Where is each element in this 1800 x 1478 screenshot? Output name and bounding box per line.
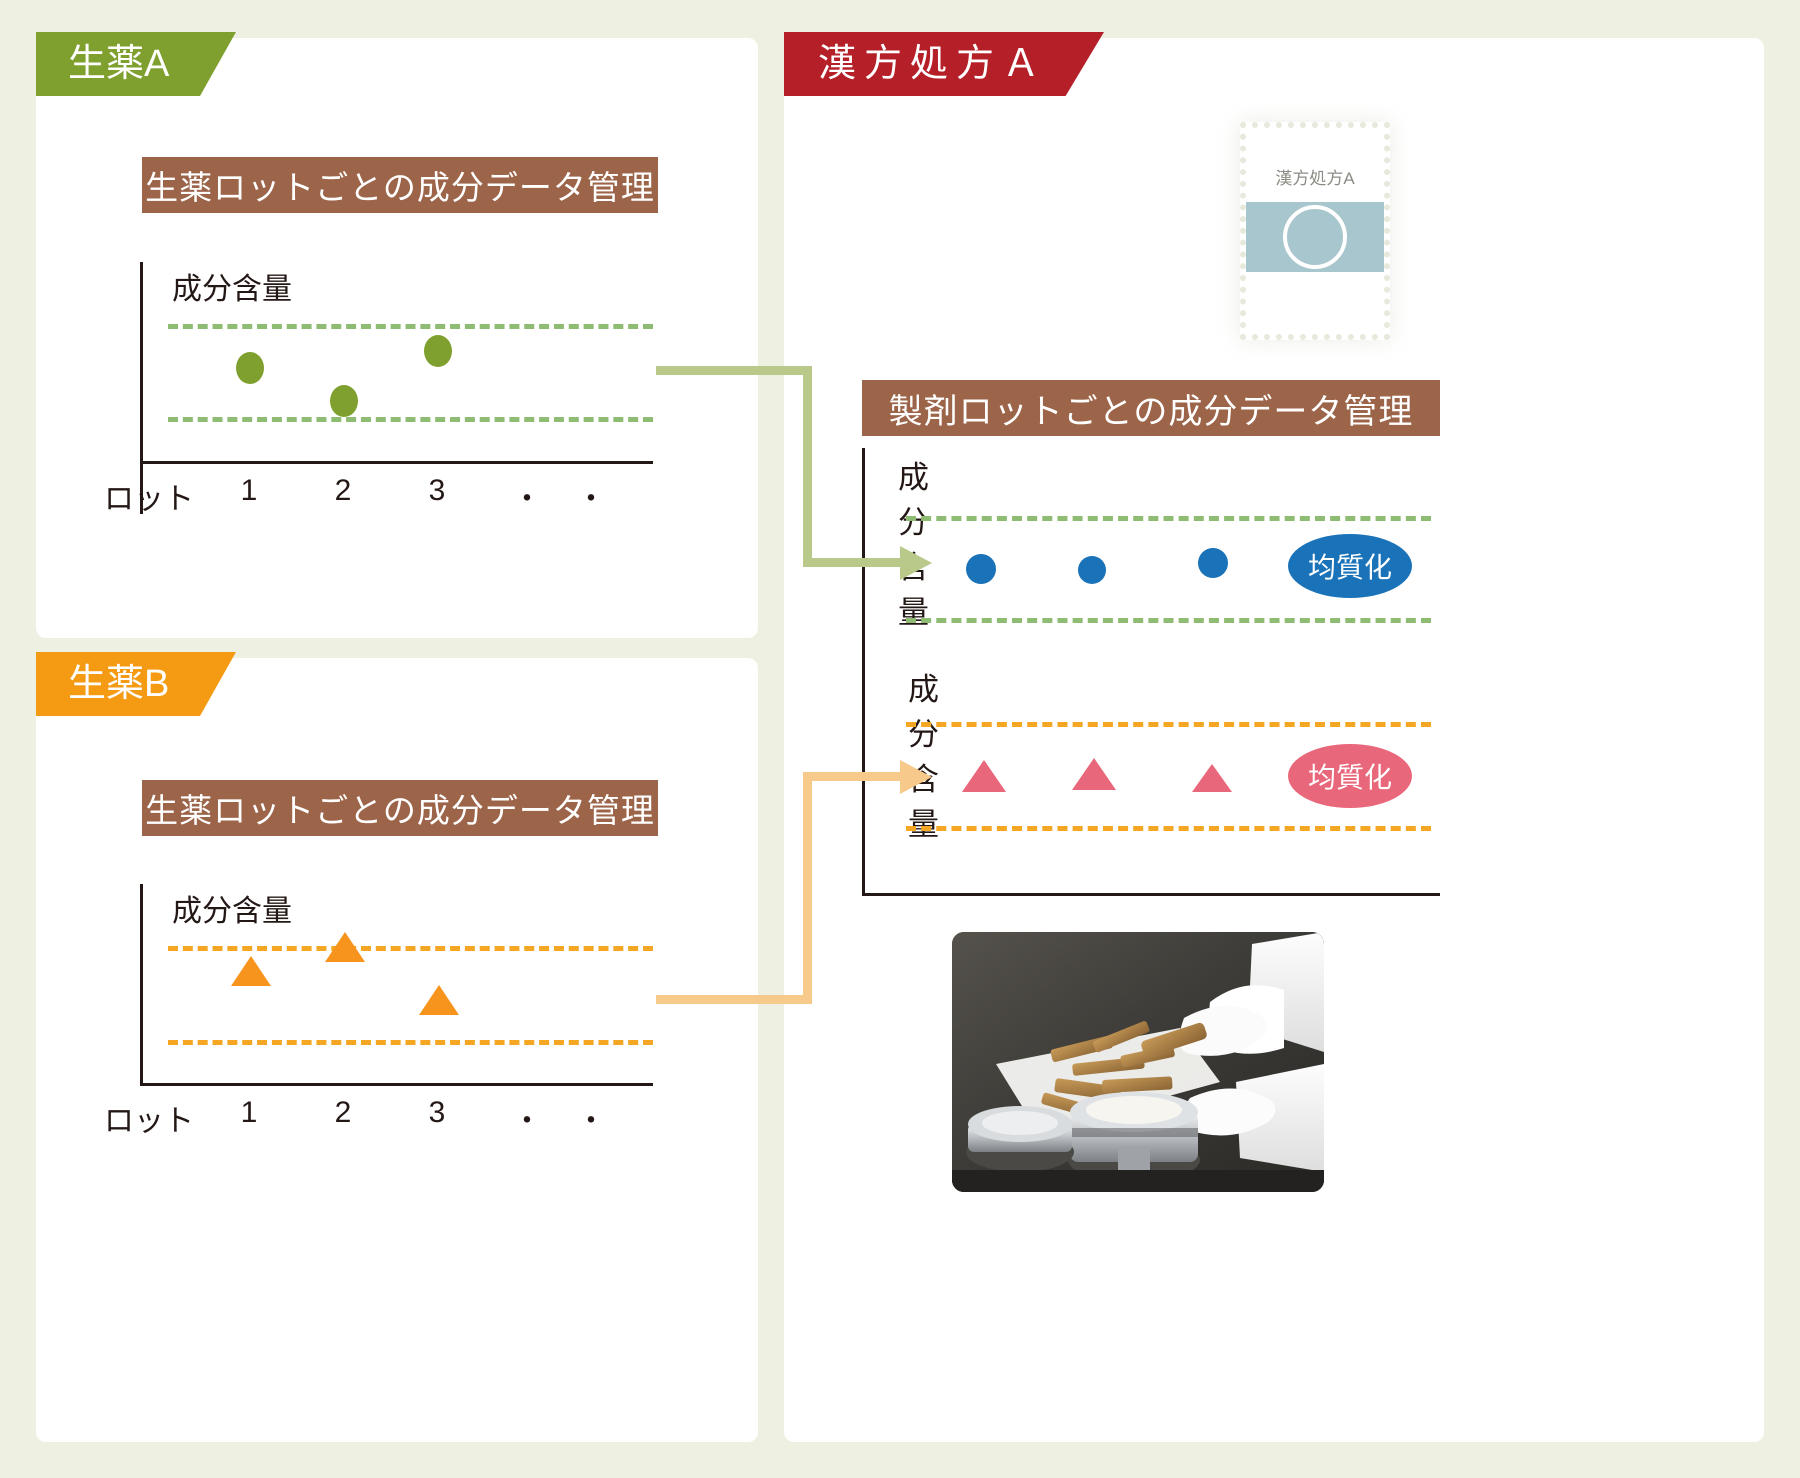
photo-herb-handling [952, 932, 1324, 1192]
tab-formula[interactable]: 漢方処方Ａ [784, 32, 1104, 96]
y-axis-label-formula-pink: 成分含量 [908, 664, 939, 844]
data-point-formula-blue-2 [1078, 556, 1106, 584]
upper-limit-line-herb-b [168, 946, 653, 951]
x-axis-label-herb-b: ロット [104, 1096, 194, 1140]
y-axis-label-herb-b: 成分含量 [172, 886, 292, 930]
section-header-herb-a: 生薬ロットごとの成分データ管理 [142, 157, 658, 213]
x-tick-herb-a-1: 1 [226, 474, 272, 508]
lower-limit-line-herb-a [168, 417, 653, 422]
data-point-herb-b-lot3 [419, 985, 459, 1015]
section-header-herb-b: 生薬ロットごとの成分データ管理 [142, 780, 658, 836]
connector-orange-horizontal-bottom [656, 995, 812, 1004]
package-name-label: 漢方処方A [1246, 164, 1384, 189]
diagram-stage: 生薬A 生薬ロットごとの成分データ管理 成分含量 ロット 1 2 3 ・ ・ 生… [0, 0, 1800, 1478]
upper-limit-line-formula-pink [906, 722, 1431, 727]
data-point-formula-pink-3 [1192, 764, 1232, 792]
x-tick-herb-a-4: ・ [504, 474, 550, 518]
x-axis-herb-a [140, 461, 653, 464]
panel-herb-b [36, 658, 758, 1442]
x-tick-herb-a-2: 2 [320, 474, 366, 508]
data-point-herb-a-lot3 [424, 335, 452, 367]
x-tick-herb-b-2: 2 [320, 1096, 366, 1130]
x-tick-herb-b-3: 3 [414, 1096, 460, 1130]
package-circle-icon [1283, 205, 1347, 269]
section-header-formula: 製剤ロットごとの成分データ管理 [862, 380, 1440, 436]
x-axis-herb-b [140, 1083, 653, 1086]
connector-green-horizontal-bottom [803, 558, 903, 567]
y-axis-label-herb-a: 成分含量 [172, 264, 292, 308]
x-axis-label-herb-a: ロット [104, 474, 194, 518]
data-point-formula-pink-1 [962, 760, 1006, 792]
section-header-formula-label: 製剤ロットごとの成分データ管理 [889, 384, 1414, 433]
section-header-herb-a-label: 生薬ロットごとの成分データ管理 [145, 161, 655, 209]
x-tick-herb-b-1: 1 [226, 1096, 272, 1130]
y-axis-label-formula-blue: 成分含量 [898, 452, 929, 632]
data-point-herb-a-lot2 [330, 385, 358, 417]
connector-orange-vertical [803, 772, 812, 1004]
lower-limit-line-formula-blue [906, 618, 1431, 623]
badge-homogenize-blue: 均質化 [1288, 534, 1412, 598]
x-axis-formula [862, 893, 1440, 896]
product-package-illustration: 漢方処方A [1240, 122, 1390, 340]
x-tick-herb-a-5: ・ [568, 474, 614, 518]
badge-homogenize-pink-label: 均質化 [1308, 756, 1392, 796]
photo-illustration [952, 932, 1324, 1192]
panel-herb-a [36, 38, 758, 638]
data-point-formula-blue-1 [966, 554, 996, 584]
connector-green-horizontal-top [656, 366, 812, 375]
x-tick-herb-a-3: 3 [414, 474, 460, 508]
upper-limit-line-herb-a [168, 324, 653, 329]
tab-herb-a-label: 生薬A [68, 43, 169, 85]
y-axis-formula [862, 448, 865, 896]
x-tick-herb-b-5: ・ [568, 1096, 614, 1140]
tab-herb-b-label: 生薬B [68, 663, 169, 705]
data-point-formula-blue-3 [1198, 548, 1228, 578]
data-point-herb-b-lot1 [231, 956, 271, 986]
upper-limit-line-formula-blue [906, 516, 1431, 521]
data-point-herb-b-lot2 [325, 932, 365, 962]
connector-green-arrowhead-icon [900, 546, 932, 580]
data-point-formula-pink-2 [1072, 758, 1116, 790]
data-point-herb-a-lot1 [236, 352, 264, 384]
lower-limit-line-herb-b [168, 1040, 653, 1045]
connector-orange-horizontal-top [803, 772, 903, 781]
connector-orange-arrowhead-icon [900, 760, 932, 794]
lower-limit-line-formula-pink [906, 826, 1431, 831]
tab-formula-label: 漢方処方Ａ [818, 43, 1048, 85]
x-tick-herb-b-4: ・ [504, 1096, 550, 1140]
badge-homogenize-pink: 均質化 [1288, 744, 1412, 808]
badge-homogenize-blue-label: 均質化 [1308, 546, 1392, 586]
y-axis-herb-b [140, 884, 143, 1086]
connector-green-vertical [803, 366, 812, 566]
section-header-herb-b-label: 生薬ロットごとの成分データ管理 [145, 784, 655, 832]
